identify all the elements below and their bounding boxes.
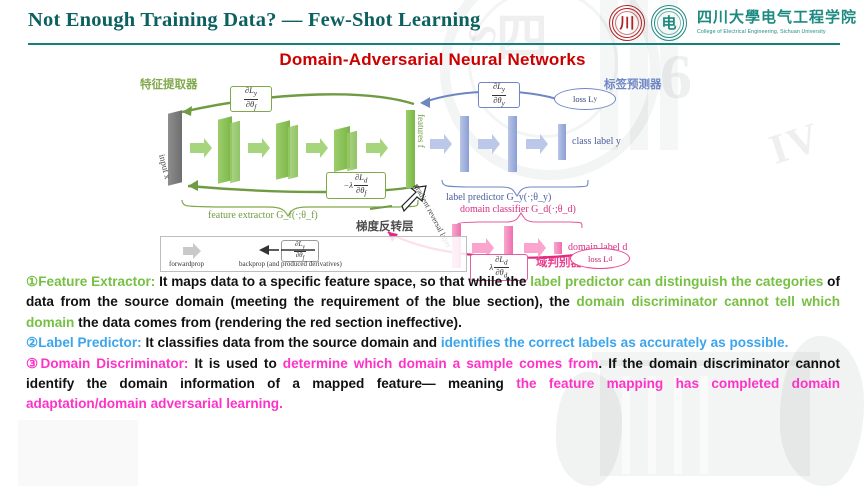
arrowhead-blue bbox=[420, 97, 430, 108]
features-slab bbox=[406, 110, 415, 188]
watermark-building-left bbox=[18, 420, 138, 486]
item1-highlight-1: label predictor can distinguish the cate… bbox=[530, 274, 823, 289]
slide-header: Not Enough Training Data? — Few-Shot Lea… bbox=[0, 0, 865, 46]
sichuan-university-seal-icon: 川 bbox=[609, 5, 645, 41]
conv-slab-3b bbox=[347, 131, 357, 171]
college-electrical-engineering-seal-icon: 电 bbox=[651, 5, 687, 41]
logo-group: 川 电 四川大學电气工程学院 College of Electrical Eng… bbox=[609, 3, 857, 43]
seal-teal-glyph: 电 bbox=[651, 5, 687, 41]
forward-arrow-green bbox=[306, 138, 328, 158]
grad-den-sub: y bbox=[502, 99, 505, 107]
conv-slab-1b bbox=[230, 121, 240, 183]
item3-marker: ③ bbox=[26, 356, 40, 371]
forward-arrow-green bbox=[190, 138, 212, 158]
output-slab-pink bbox=[554, 242, 562, 254]
legend-backprop-label: backprop (and produced derivatives) bbox=[239, 260, 342, 268]
grad-den-sub: f bbox=[364, 190, 366, 198]
university-name-cn: 四川大學电气工程学院 bbox=[697, 11, 857, 27]
grad-den: ∂θ bbox=[246, 99, 254, 109]
item2-term: Label Predictor: bbox=[38, 335, 142, 350]
university-name-en: College of Electrical Engineering, Sichu… bbox=[697, 29, 857, 35]
explanation-item-3: ③Domain Discriminator: It is used to det… bbox=[26, 354, 840, 415]
seal-red-glyph: 川 bbox=[609, 5, 645, 41]
backprop-curve-green-top bbox=[182, 94, 414, 112]
legend-forwardprop-label: forwardprop bbox=[169, 260, 204, 268]
grad-num: ∂L bbox=[495, 254, 504, 264]
grad-num: ∂L bbox=[355, 172, 364, 182]
diagram-canvas: 特征提取器 标签预测器 梯度反转层 域判别器 bbox=[130, 76, 730, 272]
forward-arrow-green bbox=[366, 138, 388, 158]
feature-extractor-fn-label: feature extractor G_f(·;θ_f) bbox=[208, 210, 318, 221]
class-label-text: class label y bbox=[572, 136, 621, 147]
forward-arrow-green bbox=[248, 138, 270, 158]
grad-den-sub: f bbox=[254, 103, 256, 111]
diagram-title: Domain-Adversarial Neural Networks bbox=[0, 50, 865, 70]
item2-seg1: It classifies data from the source domai… bbox=[142, 335, 441, 350]
conv-slab-2b bbox=[288, 125, 298, 179]
item3-highlight-1: determine which domain a sample comes fr… bbox=[283, 356, 599, 371]
gradient-box-ly-thetaf: ∂Ly ∂θf bbox=[230, 86, 272, 112]
loss-y-label: loss L bbox=[573, 94, 594, 104]
forward-arrow-blue bbox=[526, 134, 548, 154]
explanation-text: ①Feature Extractor: It maps data to a sp… bbox=[26, 272, 840, 415]
forward-arrow-blue bbox=[478, 134, 500, 154]
grad-den: ∂θ bbox=[493, 95, 501, 105]
item1-marker: ① bbox=[26, 274, 38, 289]
grad-num: ∂L bbox=[493, 81, 502, 91]
fc-slab-blue-2 bbox=[508, 116, 517, 172]
domain-classifier-fn-label: domain classifier G_d(·;θ_d) bbox=[460, 204, 576, 215]
page-title: Not Enough Training Data? — Few-Shot Lea… bbox=[28, 9, 480, 32]
output-slab-blue bbox=[558, 124, 566, 160]
gradient-box-lambda-ld-thetaf: −λ ∂Ld ∂θf bbox=[326, 172, 386, 199]
dann-diagram: Domain-Adversarial Neural Networks 特征提取器… bbox=[0, 50, 865, 272]
forward-arrow-blue bbox=[430, 134, 452, 154]
label-predictor-fn-label: label predictor G_y(·;θ_y) bbox=[446, 192, 551, 203]
explanation-item-2: ②Label Predictor: It classifies data fro… bbox=[26, 333, 840, 353]
loss-d-sub: d bbox=[609, 255, 613, 263]
item1-seg3: the data comes from (rendering the red s… bbox=[74, 315, 462, 330]
loss-d-oval: loss Ld bbox=[570, 248, 630, 269]
lambda-prefix: −λ bbox=[344, 181, 353, 190]
diagram-legend: forwardprop ∂Ly ∂θf backprop (and produc… bbox=[160, 236, 467, 272]
item2-highlight-1: identifies the correct labels as accurat… bbox=[441, 335, 789, 350]
features-label: features f bbox=[416, 114, 426, 148]
item1-term: Feature Extractor: bbox=[38, 274, 155, 289]
gradient-box-ly-thetay: ∂Ly ∂θy bbox=[478, 82, 520, 108]
loss-y-oval: loss Ly bbox=[554, 88, 616, 110]
grad-num-sub: y bbox=[502, 86, 505, 94]
grad-num-sub: d bbox=[504, 259, 508, 267]
fc-slab-blue-1 bbox=[460, 116, 469, 172]
legend-backprop-arrow-icon bbox=[257, 247, 317, 255]
item1-seg1: It maps data to a specific feature space… bbox=[155, 274, 530, 289]
loss-y-sub: y bbox=[594, 95, 598, 103]
loss-d-label: loss L bbox=[588, 254, 609, 264]
item2-marker: ② bbox=[26, 335, 38, 350]
arrowhead-green-bottom bbox=[188, 180, 198, 191]
lambda-prefix: λ bbox=[489, 263, 493, 272]
explanation-item-1: ①Feature Extractor: It maps data to a sp… bbox=[26, 272, 840, 333]
grad-num-sub: d bbox=[364, 177, 368, 185]
grad-num: ∂L bbox=[245, 85, 254, 95]
university-name-block: 四川大學电气工程学院 College of Electrical Enginee… bbox=[697, 11, 857, 35]
item3-term: Domain Discriminator: bbox=[40, 356, 188, 371]
legend-forwardprop-arrow-icon bbox=[183, 243, 201, 259]
title-divider-rule bbox=[28, 43, 840, 45]
brace-domain-classifier bbox=[456, 213, 582, 228]
item3-seg1: It is used to bbox=[188, 356, 282, 371]
grad-num-sub: y bbox=[254, 90, 257, 98]
